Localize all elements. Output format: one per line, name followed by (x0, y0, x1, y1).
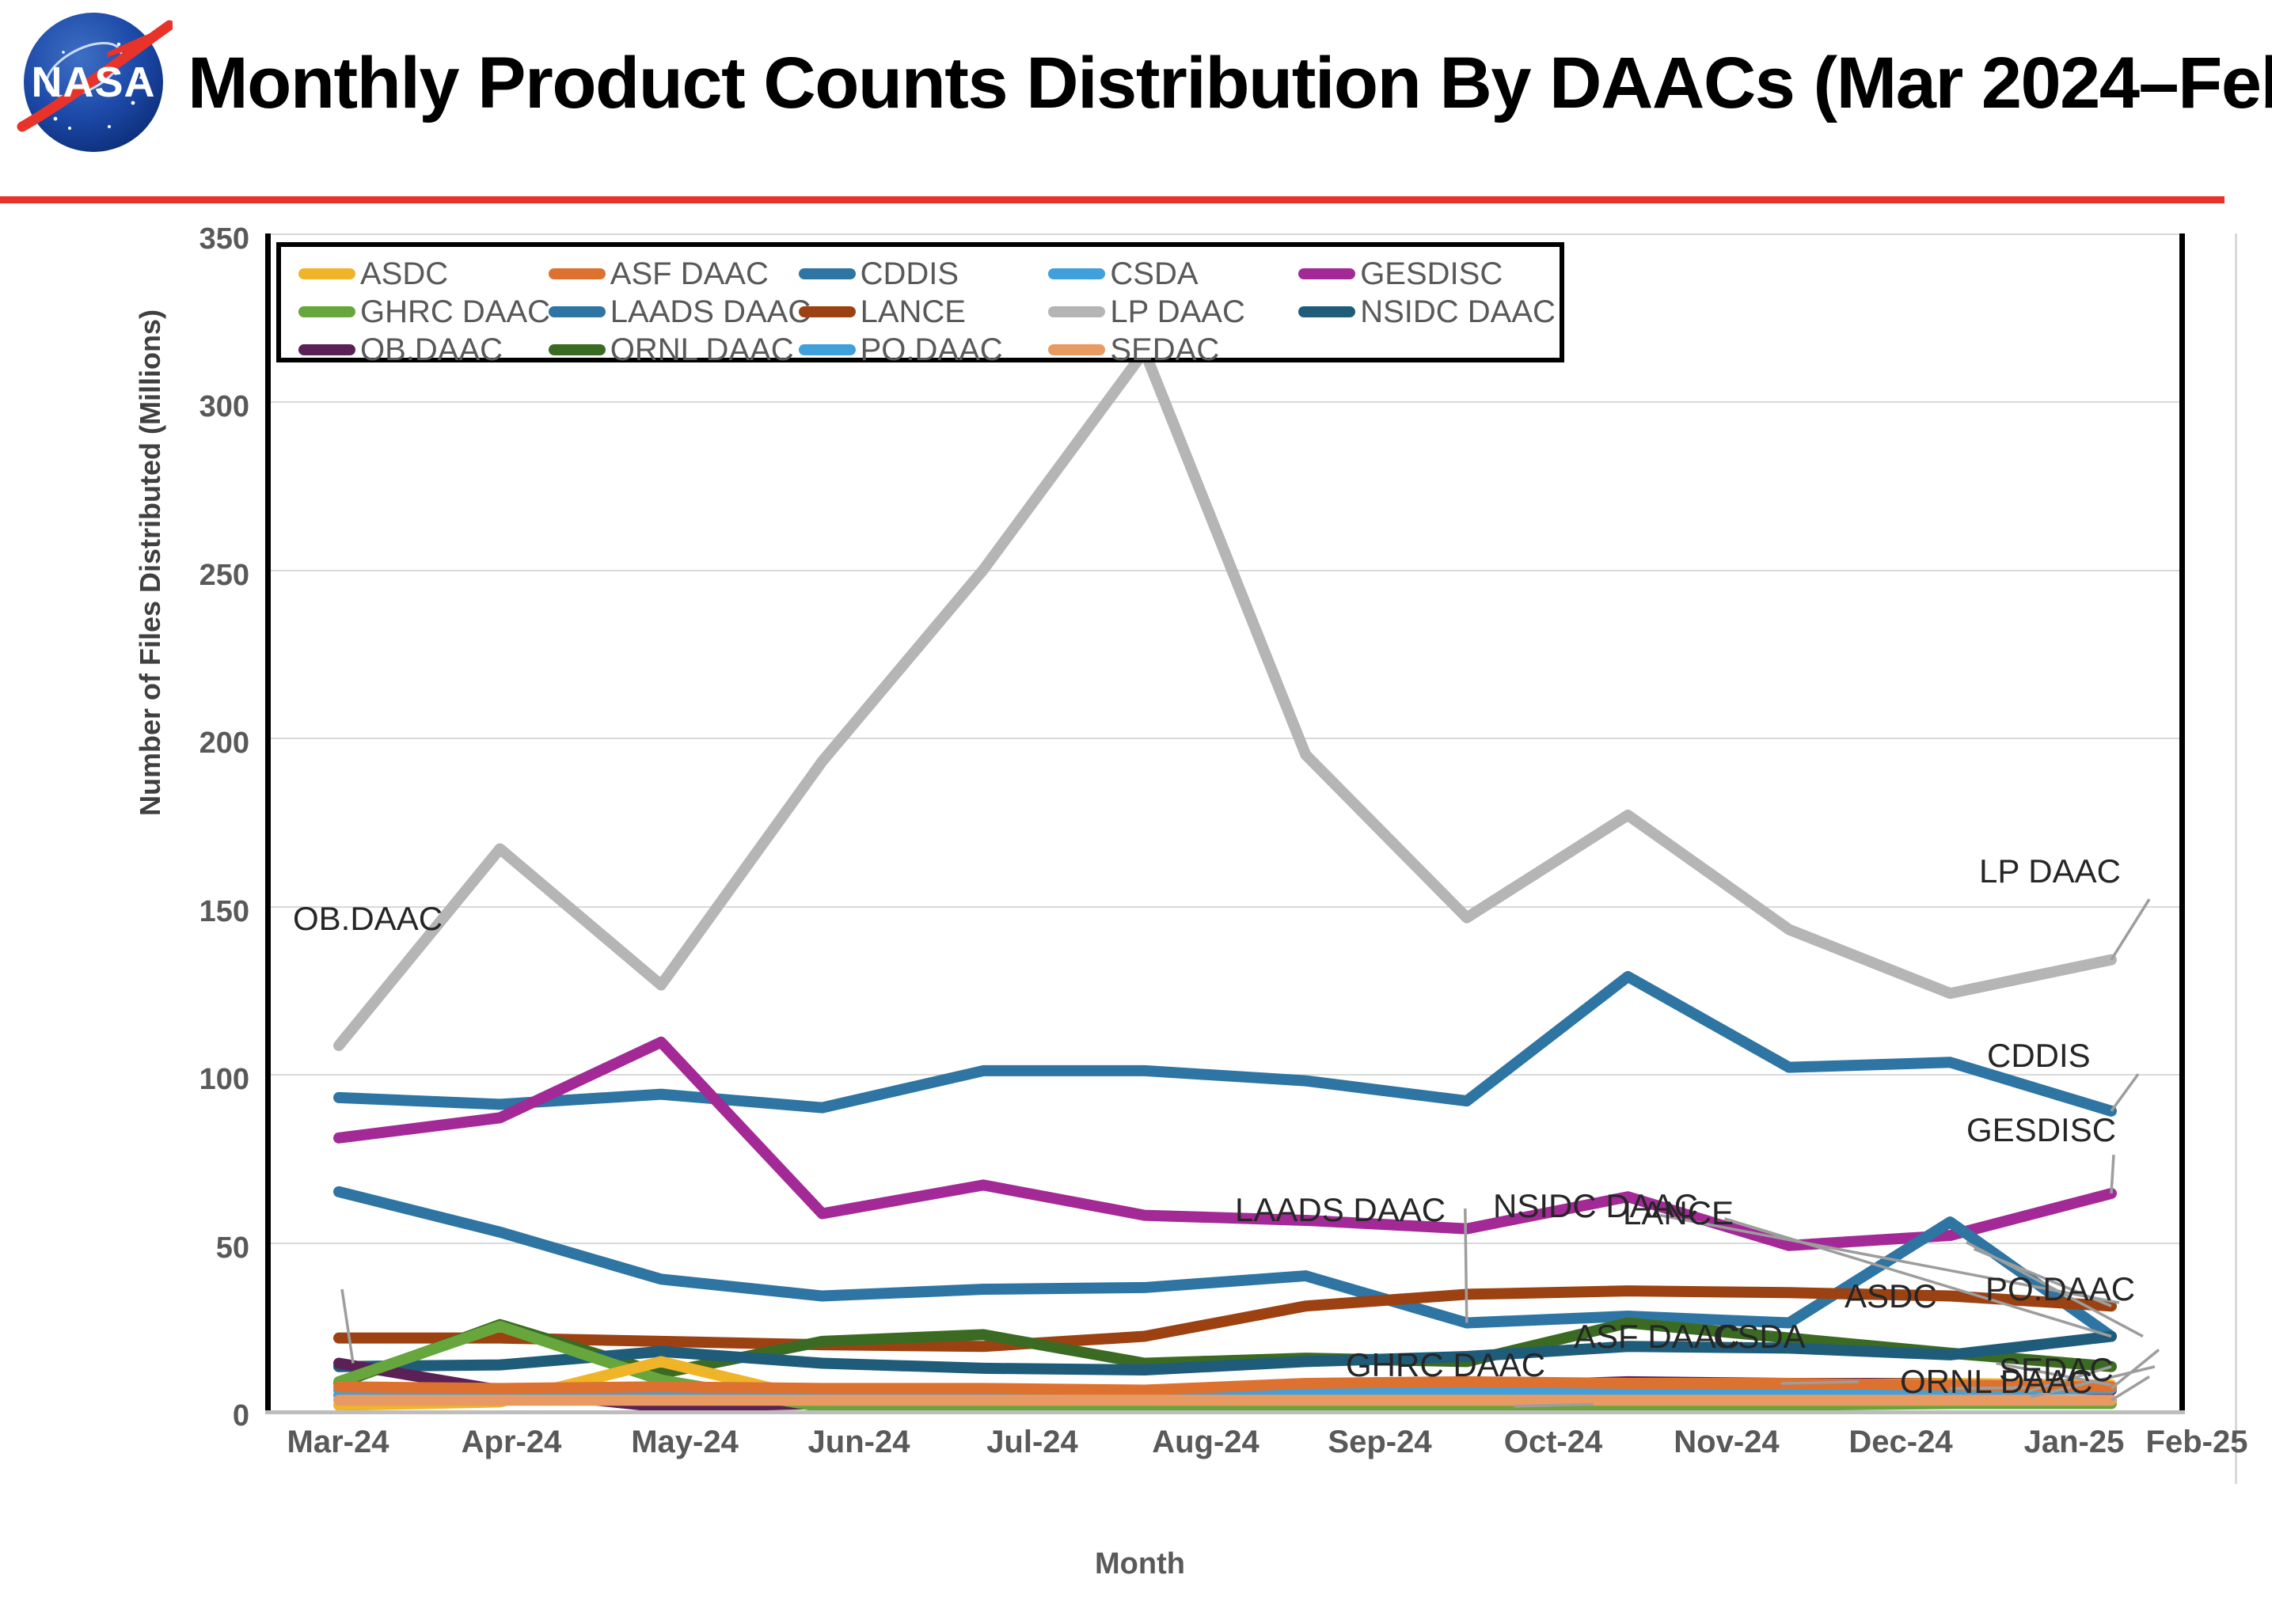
legend-label: OB.DAAC (360, 334, 503, 366)
x-axis-title: Month (1021, 1547, 1259, 1581)
x-tick-label: Feb-25 (2094, 1425, 2272, 1460)
legend-swatch-icon (1048, 306, 1105, 317)
page-header: NASA Monthly Product Counts Distribution… (0, 0, 2272, 198)
leader-line (1781, 1382, 1859, 1383)
legend-swatch-icon (549, 344, 606, 355)
legend-item-asdc[interactable]: ASDC (298, 255, 549, 293)
right-guide-line (2235, 233, 2237, 1484)
annotation-ghrc-daac: GHRC DAAC (1346, 1349, 1545, 1382)
legend-item-asf-daac[interactable]: ASF DAAC (549, 255, 799, 293)
leader-line (2111, 899, 2149, 959)
legend-label: PO.DAAC (861, 334, 1003, 366)
legend-swatch-icon (1298, 268, 1355, 279)
leader-line (2111, 1074, 2138, 1111)
y-tick-label: 50 (91, 1233, 249, 1263)
leader-line (2111, 1350, 2159, 1389)
nasa-meatball-icon: NASA (14, 8, 173, 157)
annotation-cddis: CDDIS (1987, 1039, 2091, 1072)
legend-swatch-icon (799, 306, 856, 317)
plot-area (265, 233, 2185, 1410)
legend-item-cddis[interactable]: CDDIS (799, 255, 1049, 293)
legend-label: GHRC DAAC (360, 296, 550, 328)
legend-swatch-icon (298, 268, 355, 279)
legend-label: SEDAC (1110, 334, 1219, 366)
y-tick-label: 300 (91, 392, 249, 422)
legend-item-lp-daac[interactable]: LP DAAC (1048, 293, 1298, 331)
y-tick-label: 200 (91, 728, 249, 758)
x-axis-line (265, 1410, 2185, 1414)
annotation-po-daac: PO.DAAC (1985, 1273, 2135, 1306)
y-tick-label: 100 (91, 1064, 249, 1095)
annotation-asdc: ASDC (1845, 1280, 1937, 1313)
legend-swatch-icon (799, 268, 856, 279)
legend-label: LP DAAC (1110, 296, 1244, 328)
legend-swatch-icon (549, 268, 606, 279)
annotation-laads-daac: LAADS DAAC (1235, 1193, 1446, 1227)
legend-item-laads-daac[interactable]: LAADS DAAC (549, 293, 799, 331)
legend-label: CDDIS (861, 258, 959, 290)
nasa-logo: NASA (14, 8, 173, 157)
y-tick-label: 150 (91, 897, 249, 927)
chart-legend: ASDC ASF DAAC CDDIS CSDA GESDISC GHRC DA… (276, 242, 1564, 362)
legend-label: NSIDC DAAC (1360, 296, 1556, 328)
page-title: Monthly Product Counts Distribution By D… (188, 36, 2272, 131)
legend-swatch-icon (298, 344, 355, 355)
y-tick-label: 0 (91, 1401, 249, 1431)
annotation-ob-daac: OB.DAAC (293, 902, 443, 935)
legend-label: ASF DAAC (610, 258, 769, 290)
legend-label: LAADS DAAC (610, 296, 811, 328)
legend-item-po-daac[interactable]: PO.DAAC (799, 331, 1049, 369)
legend-item-ghrc-daac[interactable]: GHRC DAAC (298, 293, 549, 331)
leader-line (342, 1289, 353, 1363)
leader-line (2111, 1155, 2114, 1193)
legend-label: CSDA (1110, 258, 1198, 290)
legend-item-gesdisc[interactable]: GESDISC (1298, 255, 1548, 293)
legend-swatch-icon (549, 306, 606, 317)
annotation-leader-lines (271, 233, 2179, 1410)
legend-item-sedac[interactable]: SEDAC (1048, 331, 1298, 369)
legend-label: ORNL DAAC (610, 334, 794, 366)
legend-swatch-icon (799, 344, 856, 355)
legend-swatch-icon (298, 306, 355, 317)
leader-line (1514, 1404, 1594, 1406)
legend-swatch-icon (1298, 306, 1355, 317)
svg-text:NASA: NASA (31, 59, 155, 106)
annotation-lp-daac: LP DAAC (1979, 855, 2121, 888)
legend-item-ornl-daac[interactable]: ORNL DAAC (549, 331, 799, 369)
annotation-gesdisc: GESDISC (1966, 1114, 2116, 1147)
legend-label: ASDC (360, 258, 448, 290)
y-tick-label: 250 (91, 560, 249, 590)
legend-item-lance[interactable]: LANCE (799, 293, 1049, 331)
plot-inner (271, 233, 2179, 1410)
legend-label: LANCE (861, 296, 966, 328)
leader-line (1465, 1209, 1467, 1322)
annotation-lance: LANCE (1623, 1197, 1734, 1230)
y-tick-label: 350 (91, 224, 249, 254)
annotation-csda: CSDA (1713, 1320, 1806, 1353)
legend-item-csda[interactable]: CSDA (1048, 255, 1298, 293)
legend-item-nsidc-daac[interactable]: NSIDC DAAC (1298, 293, 1548, 331)
legend-swatch-icon (1048, 268, 1105, 279)
legend-item-ob-daac[interactable]: OB.DAAC (298, 331, 549, 369)
legend-label: GESDISC (1360, 258, 1503, 290)
leader-line (2111, 1377, 2149, 1401)
title-divider (0, 196, 2225, 203)
legend-swatch-icon (1048, 344, 1105, 355)
annotation-sedac: SEDAC (1999, 1353, 2114, 1387)
